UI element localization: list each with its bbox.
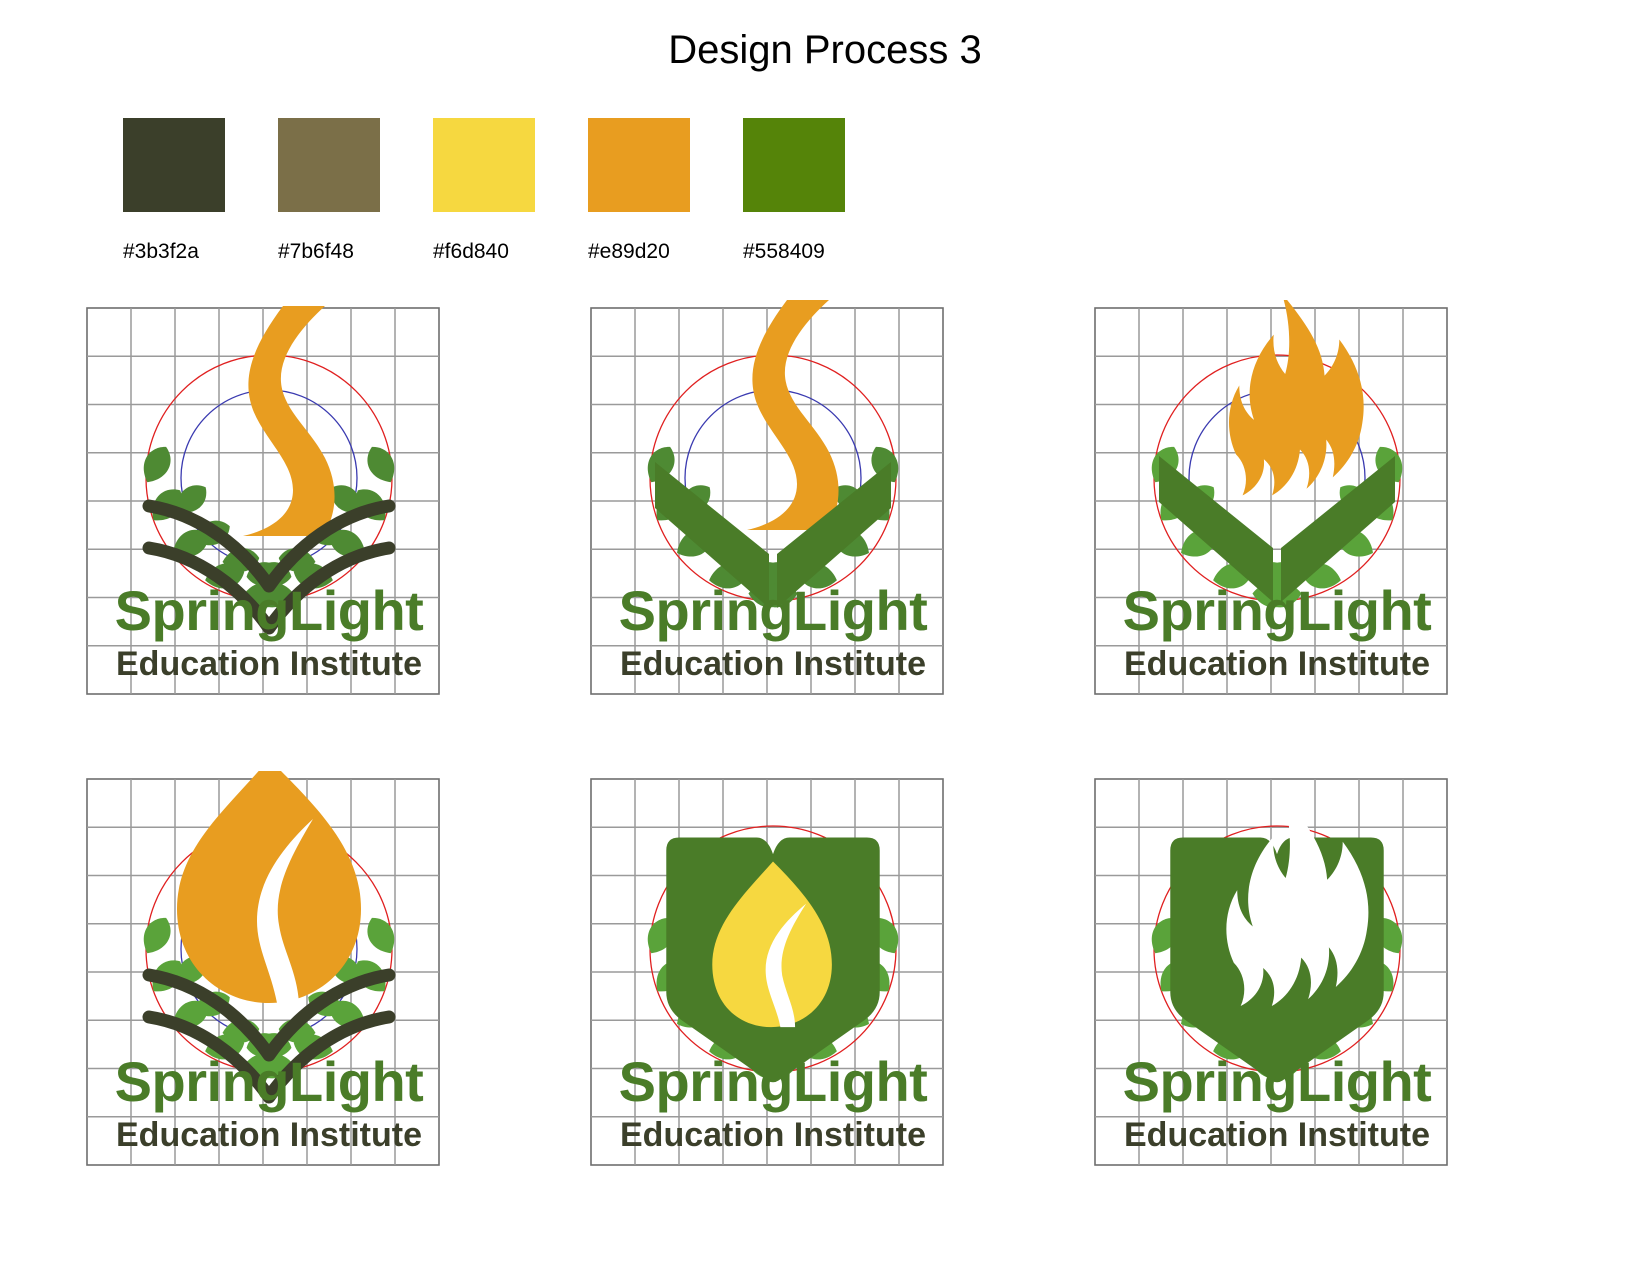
logo-tile-logo-variant-green-shield-knockout-flame[interactable]: SpringLight Education Institute: [1090, 771, 1452, 1171]
svg-text:Education Institute: Education Institute: [620, 1116, 926, 1154]
swatch-item[interactable]: #e89d20: [588, 118, 690, 264]
logo-wordmark: SpringLight Education Institute: [1123, 579, 1432, 683]
logo-variant-row-1: SpringLight Education Institute: [0, 300, 1650, 700]
logo-wordmark: SpringLight Education Institute: [115, 579, 424, 683]
color-palette-strip: #3b3f2a #7b6f48 #f6d840 #e89d20 #558409: [123, 118, 845, 264]
logo-wordmark: SpringLight Education Institute: [115, 1050, 424, 1154]
svg-text:Education Institute: Education Institute: [620, 645, 926, 683]
logo-artboard: SpringLight Education Institute: [586, 771, 948, 1171]
page-title: Design Process 3: [0, 28, 1650, 73]
swatch-item[interactable]: #3b3f2a: [123, 118, 225, 264]
logo-artboard: SpringLight Education Institute: [1090, 300, 1452, 700]
svg-text:Education Institute: Education Institute: [1124, 1116, 1430, 1154]
color-swatch-label: #7b6f48: [278, 240, 380, 264]
logo-artboard: SpringLight Education Institute: [82, 771, 444, 1171]
logo-artboard: SpringLight Education Institute: [82, 300, 444, 700]
color-swatch-label: #f6d840: [433, 240, 535, 264]
svg-text:SpringLight: SpringLight: [619, 579, 928, 642]
swatch-item[interactable]: #558409: [743, 118, 845, 264]
logo-variant-grid: SpringLight Education Institute: [0, 300, 1650, 1171]
svg-text:Education Institute: Education Institute: [116, 1116, 422, 1154]
svg-text:Education Institute: Education Institute: [1124, 645, 1430, 683]
color-swatch-label: #3b3f2a: [123, 240, 225, 264]
svg-text:SpringLight: SpringLight: [115, 579, 424, 642]
svg-text:SpringLight: SpringLight: [619, 1050, 928, 1113]
logo-tile-logo-variant-swoosh-open-book-outline[interactable]: SpringLight Education Institute: [82, 300, 444, 700]
svg-text:SpringLight: SpringLight: [1123, 1050, 1432, 1113]
color-swatch-green[interactable]: [743, 118, 845, 212]
color-swatch-label: #558409: [743, 240, 845, 264]
color-swatch-label: #e89d20: [588, 240, 690, 264]
logo-tile-logo-variant-swoosh-solid-green-book[interactable]: SpringLight Education Institute: [586, 300, 948, 700]
swatch-item[interactable]: #7b6f48: [278, 118, 380, 264]
color-swatch-khaki-brown[interactable]: [278, 118, 380, 212]
logo-tile-logo-variant-teardrop-flame-book-outline[interactable]: SpringLight Education Institute: [82, 771, 444, 1171]
svg-text:SpringLight: SpringLight: [115, 1050, 424, 1113]
logo-tile-logo-variant-jagged-flame-solid-book[interactable]: SpringLight Education Institute: [1090, 300, 1452, 700]
logo-tile-logo-variant-green-shield-yellow-flame[interactable]: SpringLight Education Institute: [586, 771, 948, 1171]
svg-text:SpringLight: SpringLight: [1123, 579, 1432, 642]
logo-variant-row-2: SpringLight Education Institute: [0, 771, 1650, 1171]
logo-artboard: SpringLight Education Institute: [1090, 771, 1452, 1171]
color-swatch-orange[interactable]: [588, 118, 690, 212]
swatch-item[interactable]: #f6d840: [433, 118, 535, 264]
logo-wordmark: SpringLight Education Institute: [1123, 1050, 1432, 1154]
color-swatch-yellow[interactable]: [433, 118, 535, 212]
logo-artboard: SpringLight Education Institute: [586, 300, 948, 700]
svg-text:Education Institute: Education Institute: [116, 645, 422, 683]
logo-wordmark: SpringLight Education Institute: [619, 1050, 928, 1154]
color-swatch-dark-olive[interactable]: [123, 118, 225, 212]
logo-wordmark: SpringLight Education Institute: [619, 579, 928, 683]
